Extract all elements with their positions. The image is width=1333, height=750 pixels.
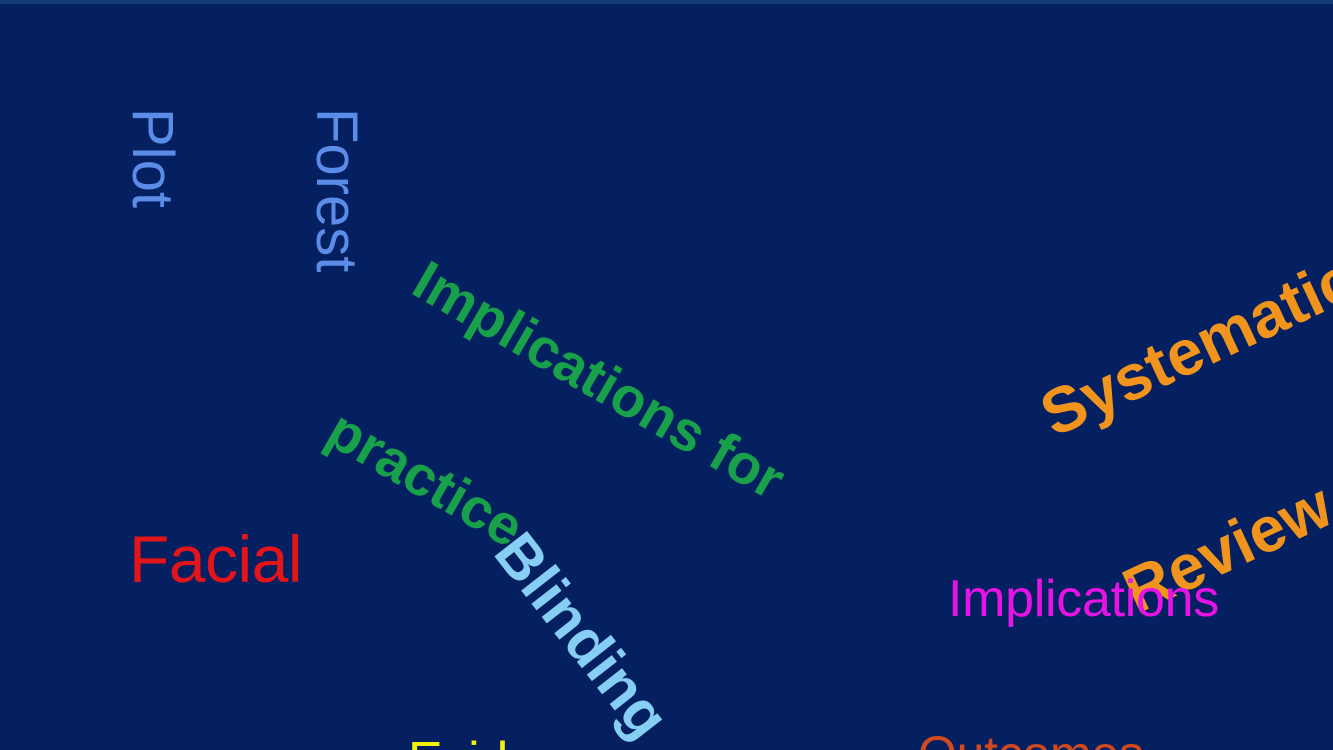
word-forest-plot-line-1: Forest — [306, 108, 367, 358]
word-evidence-quality-line-1: Evidence — [408, 729, 620, 750]
slide-top-edge-strip — [0, 0, 1333, 4]
word-forest-plot-line-2: Plot — [121, 108, 182, 358]
word-outcomes: Outcomes — [918, 622, 1143, 750]
word-evidence-quality: Evidence Quality — [408, 598, 620, 750]
word-systematic-review-line-1: Systematic — [1031, 245, 1333, 447]
word-cloud-canvas: Risk of Bias Forest Plot Implications fo… — [0, 0, 1333, 750]
word-outcomes-line-1: Outcomes — [918, 728, 1143, 750]
